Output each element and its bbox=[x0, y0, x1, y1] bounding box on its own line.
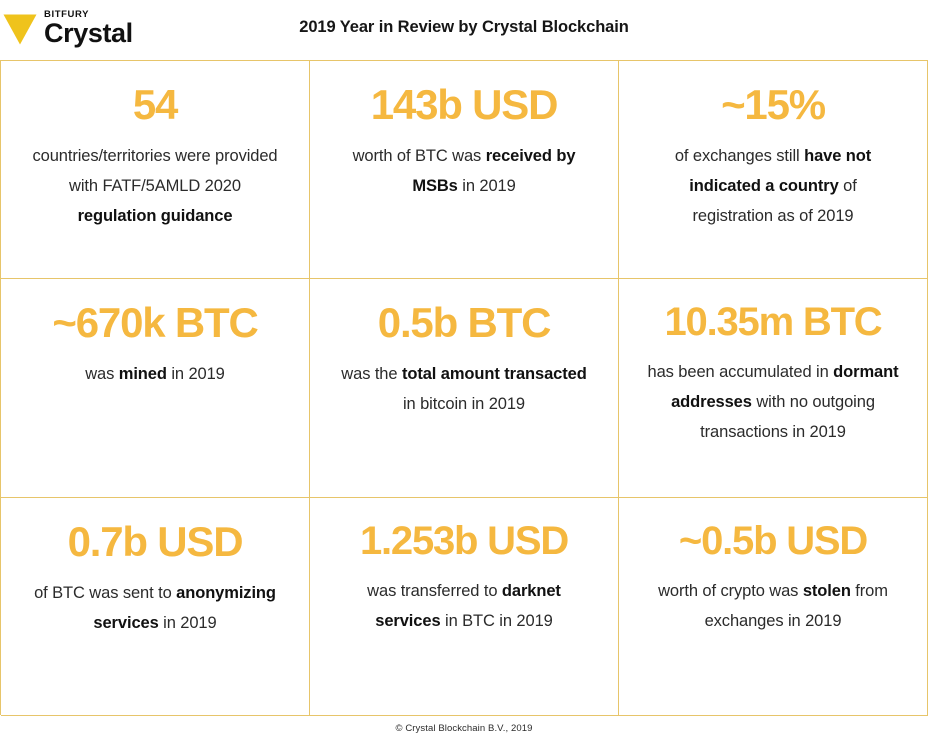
stat-description: worth of BTC was received by MSBs in 201… bbox=[338, 141, 590, 201]
stat-card-unindicated-country: ~15% of exchanges still have not indicat… bbox=[619, 61, 928, 279]
stat-card-msb-received: 143b USD worth of BTC was received by MS… bbox=[310, 61, 619, 279]
stat-description: was transferred to darknet services in B… bbox=[338, 576, 590, 636]
stat-card-btc-mined: ~670k BTC was mined in 2019 bbox=[1, 279, 310, 498]
page-title: 2019 Year in Review by Crystal Blockchai… bbox=[0, 18, 928, 37]
infographic-page: BITFURY Crystal 2019 Year in Review by C… bbox=[0, 0, 928, 741]
stat-value: ~670k BTC bbox=[52, 301, 257, 345]
stat-description: of exchanges still have not indicated a … bbox=[647, 141, 899, 231]
stat-value: ~0.5b USD bbox=[679, 520, 867, 562]
stat-value: 143b USD bbox=[371, 83, 557, 127]
page-footer: © Crystal Blockchain B.V., 2019 bbox=[0, 715, 928, 741]
stat-value: 1.253b USD bbox=[360, 520, 568, 562]
stat-value: 54 bbox=[133, 83, 177, 127]
stat-card-regulation-guidance: 54 countries/territories were provided w… bbox=[1, 61, 310, 279]
copyright-text: © Crystal Blockchain B.V., 2019 bbox=[395, 723, 532, 734]
stat-card-dormant-addresses: 10.35m BTC has been accumulated in dorma… bbox=[619, 279, 928, 498]
stat-grid: 54 countries/territories were provided w… bbox=[0, 60, 928, 715]
stat-description: was the total amount transacted in bitco… bbox=[338, 359, 590, 419]
stat-value: 0.5b BTC bbox=[378, 301, 550, 345]
page-header: BITFURY Crystal 2019 Year in Review by C… bbox=[0, 0, 928, 60]
stat-card-total-transacted: 0.5b BTC was the total amount transacted… bbox=[310, 279, 619, 498]
stat-value: 10.35m BTC bbox=[665, 301, 882, 343]
stat-description: countries/territories were provided with… bbox=[29, 141, 281, 231]
stat-card-darknet-services: 1.253b USD was transferred to darknet se… bbox=[310, 498, 619, 716]
stat-description: was mined in 2019 bbox=[85, 359, 225, 389]
stat-value: ~15% bbox=[721, 83, 825, 127]
stat-value: 0.7b USD bbox=[68, 520, 243, 564]
stat-card-anonymizing-services: 0.7b USD of BTC was sent to anonymizing … bbox=[1, 498, 310, 716]
stat-card-stolen-crypto: ~0.5b USD worth of crypto was stolen fro… bbox=[619, 498, 928, 716]
stat-description: worth of crypto was stolen from exchange… bbox=[647, 576, 899, 636]
stat-description: has been accumulated in dormant addresse… bbox=[647, 357, 899, 447]
stat-description: of BTC was sent to anonymizing services … bbox=[29, 578, 281, 638]
